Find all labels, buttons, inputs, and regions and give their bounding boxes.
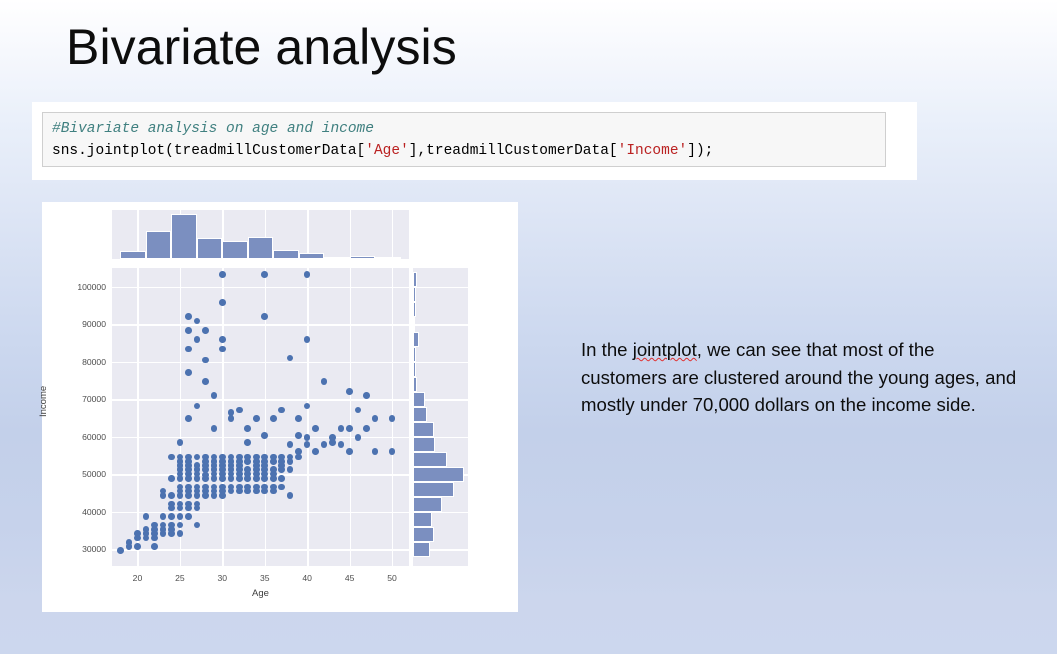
- scatter-point: [253, 454, 260, 461]
- x-axis-tick-label: 45: [345, 573, 355, 583]
- scatter-point: [202, 492, 209, 499]
- scatter-point: [126, 543, 133, 550]
- scatter-point: [304, 336, 311, 343]
- scatter-point: [219, 336, 226, 343]
- code-block-container: #Bivariate analysis on age and income sn…: [32, 102, 917, 180]
- scatter-point: [228, 462, 235, 469]
- marginal-histogram-top: [112, 210, 409, 259]
- scatter-point: [244, 425, 251, 432]
- y-axis-tick-label: 30000: [46, 544, 106, 554]
- gridline-horizontal: [112, 512, 409, 513]
- histogram-bar-right: [413, 392, 425, 407]
- scatter-point: [278, 462, 285, 469]
- histogram-bar-right: [413, 482, 454, 497]
- jointplot-figure: Age Income 20253035404550300004000050000…: [42, 202, 518, 612]
- scatter-point: [160, 513, 167, 520]
- scatter-point: [134, 543, 141, 550]
- scatter-point: [253, 475, 260, 482]
- page-title: Bivariate analysis: [66, 17, 457, 77]
- scatter-point: [304, 441, 311, 448]
- scatter-point: [185, 462, 192, 469]
- scatter-point: [177, 513, 184, 520]
- histogram-bar-right: [413, 437, 435, 452]
- scatter-point: [202, 378, 209, 385]
- scatter-point: [372, 448, 379, 455]
- scatter-point: [261, 432, 268, 439]
- scatter-point: [287, 458, 294, 465]
- scatter-point: [168, 475, 175, 482]
- scatter-point: [244, 439, 251, 446]
- scatter-point: [261, 475, 268, 482]
- scatter-point: [287, 492, 294, 499]
- scatter-point: [160, 492, 167, 499]
- scatter-point: [151, 543, 158, 550]
- scatter-point: [211, 492, 218, 499]
- scatter-point: [143, 513, 150, 520]
- histogram-bar-right: [413, 407, 427, 422]
- gridline-horizontal: [112, 324, 409, 325]
- x-axis-tick-label: 40: [302, 573, 312, 583]
- scatter-point: [185, 327, 192, 334]
- scatter-point: [295, 448, 302, 455]
- scatter-point: [117, 547, 124, 554]
- histogram-bar-right: [413, 542, 430, 557]
- scatter-point: [346, 425, 353, 432]
- scatter-point: [244, 475, 251, 482]
- scatter-point: [177, 522, 184, 529]
- code-line-statement: sns.jointplot(treadmillCustomerData['Age…: [52, 140, 876, 162]
- scatter-point: [253, 462, 260, 469]
- scatter-point: [363, 425, 370, 432]
- code-fragment-1: sns.jointplot(treadmillCustomerData[: [52, 143, 365, 159]
- y-axis-tick-label: 100000: [46, 282, 106, 292]
- scatter-point: [202, 357, 209, 364]
- scatter-point: [261, 462, 268, 469]
- scatter-point: [236, 462, 243, 469]
- scatter-point: [177, 530, 184, 537]
- scatter-point: [304, 403, 311, 410]
- histogram-bar-right: [413, 302, 416, 317]
- x-axis-tick-label: 25: [175, 573, 185, 583]
- histogram-bar-top: [299, 253, 324, 259]
- scatter-point: [372, 415, 379, 422]
- scatter-point: [202, 475, 209, 482]
- scatter-point: [261, 271, 268, 278]
- gridline-horizontal: [413, 324, 468, 325]
- scatter-point: [185, 488, 192, 495]
- scatter-point: [228, 409, 235, 416]
- gridline-vertical: [350, 268, 351, 566]
- scatter-point: [321, 378, 328, 385]
- scatter-point: [194, 522, 201, 529]
- scatter-point: [160, 526, 167, 533]
- histogram-bar-right: [413, 497, 442, 512]
- code-comment-text: #Bivariate analysis on age and income: [52, 121, 374, 137]
- scatter-point: [151, 530, 158, 537]
- y-axis-tick-label: 50000: [46, 469, 106, 479]
- scatter-point: [202, 327, 209, 334]
- histogram-bar-top: [171, 214, 196, 259]
- scatter-point: [346, 388, 353, 395]
- scatter-point: [177, 439, 184, 446]
- scatter-point: [228, 488, 235, 495]
- scatter-point: [168, 454, 175, 461]
- scatter-point: [346, 448, 353, 455]
- scatter-point: [270, 415, 277, 422]
- histogram-bar-top: [248, 237, 273, 259]
- x-axis-tick-label: 20: [133, 573, 143, 583]
- scatter-point: [253, 415, 260, 422]
- scatter-point: [177, 505, 184, 512]
- scatter-point: [219, 462, 226, 469]
- scatter-point: [194, 454, 201, 461]
- histogram-bar-top: [350, 256, 375, 259]
- scatter-point: [168, 505, 175, 512]
- scatter-point: [168, 492, 175, 499]
- scatter-point: [211, 392, 218, 399]
- histogram-bar-top: [375, 257, 400, 259]
- scatter-point: [236, 407, 243, 414]
- gridline-horizontal: [112, 287, 409, 288]
- scatter-point: [185, 471, 192, 478]
- gridline-vertical: [392, 210, 393, 259]
- scatter-point: [185, 513, 192, 520]
- scatter-point: [295, 415, 302, 422]
- scatter-point: [338, 425, 345, 432]
- scatter-point: [270, 454, 277, 461]
- scatter-point: [219, 454, 226, 461]
- scatter-point: [219, 346, 226, 353]
- histogram-bar-right: [413, 422, 434, 437]
- scatter-point: [202, 462, 209, 469]
- scatter-point: [177, 492, 184, 499]
- body-text-before: In the: [581, 339, 633, 360]
- misspelled-word: jointplot: [633, 339, 697, 360]
- scatter-point: [261, 488, 268, 495]
- scatter-point: [168, 513, 175, 520]
- scatter-point: [194, 336, 201, 343]
- scatter-point: [329, 439, 336, 446]
- histogram-bar-right: [413, 287, 416, 302]
- x-axis-label: Age: [112, 588, 409, 599]
- gridline-horizontal: [413, 287, 468, 288]
- scatter-point: [185, 346, 192, 353]
- scatter-point: [389, 448, 396, 455]
- histogram-bar-right: [413, 272, 417, 287]
- scatter-point: [185, 505, 192, 512]
- body-paragraph: In the jointplot, we can see that most o…: [581, 336, 1017, 419]
- scatter-point: [278, 484, 285, 491]
- scatter-point: [389, 415, 396, 422]
- histogram-bar-right: [413, 377, 417, 392]
- histogram-bar-right: [413, 362, 416, 377]
- histogram-bar-right: [413, 347, 416, 362]
- scatter-point: [287, 441, 294, 448]
- scatter-point: [312, 448, 319, 455]
- scatter-point: [211, 475, 218, 482]
- scatter-point: [287, 355, 294, 362]
- gridline-horizontal: [112, 362, 409, 363]
- scatter-point: [261, 313, 268, 320]
- scatter-point: [363, 392, 370, 399]
- scatter-point: [219, 492, 226, 499]
- scatter-point: [278, 407, 285, 414]
- y-axis-tick-label: 80000: [46, 357, 106, 367]
- gridline-vertical: [307, 268, 308, 566]
- x-axis-tick-label: 50: [387, 573, 397, 583]
- scatter-point: [338, 441, 345, 448]
- histogram-bar-top: [222, 241, 247, 259]
- histogram-bar-top: [146, 231, 171, 259]
- scatter-point: [202, 454, 209, 461]
- gridline-vertical: [137, 268, 138, 566]
- y-axis-tick-label: 60000: [46, 432, 106, 442]
- code-fragment-3: ]);: [687, 143, 713, 159]
- scatter-point: [185, 313, 192, 320]
- code-string-age: 'Age': [365, 143, 409, 159]
- scatter-point: [278, 475, 285, 482]
- histogram-bar-top: [197, 238, 222, 259]
- scatter-point: [304, 271, 311, 278]
- scatter-point: [270, 475, 277, 482]
- code-line-comment: #Bivariate analysis on age and income: [52, 118, 876, 140]
- scatter-point: [185, 369, 192, 376]
- scatter-point: [219, 271, 226, 278]
- histogram-bar-right: [413, 512, 432, 527]
- gridline-vertical: [307, 210, 308, 259]
- histogram-bar-top: [324, 257, 349, 259]
- histogram-bar-right: [413, 332, 419, 347]
- scatter-point: [355, 407, 362, 414]
- gridline-vertical: [350, 210, 351, 259]
- scatter-point: [228, 415, 235, 422]
- scatter-point: [236, 454, 243, 461]
- gridline-vertical: [222, 268, 223, 566]
- scatter-point: [236, 475, 243, 482]
- scatter-point: [168, 526, 175, 533]
- scatter-point: [194, 466, 201, 473]
- scatter-point: [312, 425, 319, 432]
- histogram-bar-top: [273, 250, 298, 259]
- marginal-histogram-right: [413, 268, 468, 566]
- scatter-point: [321, 441, 328, 448]
- x-axis-tick-label: 30: [218, 573, 228, 583]
- x-axis-tick-label: 35: [260, 573, 270, 583]
- y-axis-tick-label: 90000: [46, 319, 106, 329]
- scatter-point: [211, 462, 218, 469]
- code-fragment-2: ],treadmillCustomerData[: [409, 143, 618, 159]
- histogram-bar-right: [413, 317, 415, 332]
- scatter-point: [211, 425, 218, 432]
- scatter-point: [194, 505, 201, 512]
- scatter-point: [185, 415, 192, 422]
- scatter-point: [304, 434, 311, 441]
- gridline-horizontal: [413, 362, 468, 363]
- scatter-point: [244, 488, 251, 495]
- scatter-point: [194, 318, 201, 325]
- histogram-bar-right: [413, 527, 434, 542]
- scatter-point: [355, 434, 362, 441]
- histogram-bar-top: [120, 251, 145, 259]
- scatter-point: [219, 475, 226, 482]
- y-axis-tick-label: 70000: [46, 394, 106, 404]
- scatter-point: [228, 475, 235, 482]
- gridline-horizontal: [112, 399, 409, 400]
- histogram-bar-right: [413, 452, 447, 467]
- scatter-point: [185, 454, 192, 461]
- scatter-point: [194, 475, 201, 482]
- scatter-point: [295, 432, 302, 439]
- scatter-point: [287, 466, 294, 473]
- code-cell[interactable]: #Bivariate analysis on age and income sn…: [42, 112, 886, 167]
- scatter-point: [253, 488, 260, 495]
- scatter-point: [134, 530, 141, 537]
- scatter-point: [219, 299, 226, 306]
- histogram-bar-right: [413, 467, 464, 482]
- scatter-plot-panel: [112, 268, 409, 566]
- code-string-income: 'Income': [618, 143, 688, 159]
- scatter-point: [270, 488, 277, 495]
- scatter-point: [194, 403, 201, 410]
- scatter-point: [236, 488, 243, 495]
- y-axis-tick-label: 40000: [46, 507, 106, 517]
